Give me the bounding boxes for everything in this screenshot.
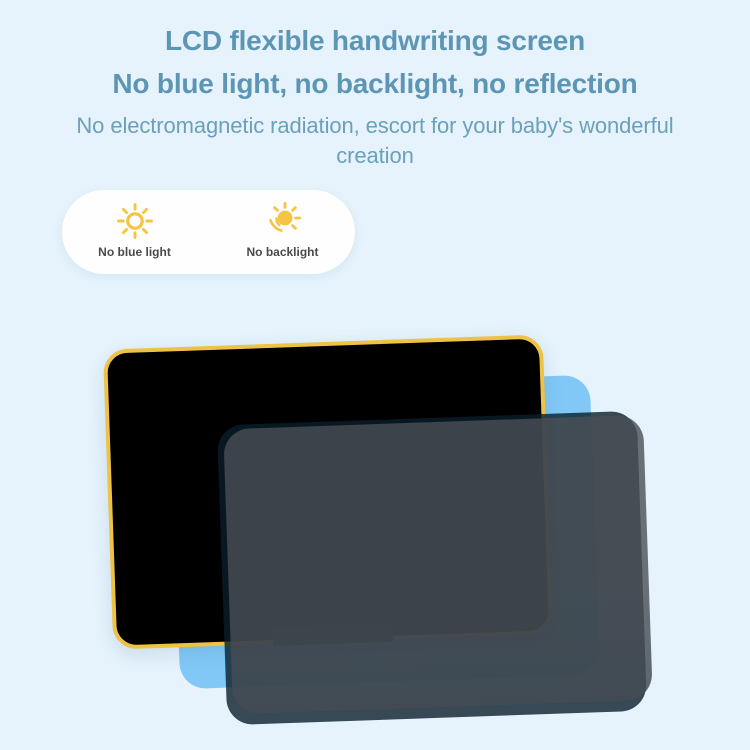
gray-sheet-shading [223,415,653,714]
headings-block: LCD flexible handwriting screen No blue … [0,22,750,171]
product-image-stage [0,300,750,750]
page-title-line-1: LCD flexible handwriting screen [0,22,750,60]
feature-label: No blue light [98,245,171,259]
feature-label: No backlight [246,245,318,259]
feature-no-backlight: No backlight [229,200,337,259]
page-title-line-2: No blue light, no backlight, no reflecti… [0,65,750,103]
feature-no-blue-light: No blue light [81,200,189,259]
sun-outline-icon [113,200,157,242]
page-subtitle: No electromagnetic radiation, escort for… [0,111,750,171]
feature-badge: No blue light No backlight [62,190,355,274]
sun-filled-no-backlight-icon [261,200,305,242]
